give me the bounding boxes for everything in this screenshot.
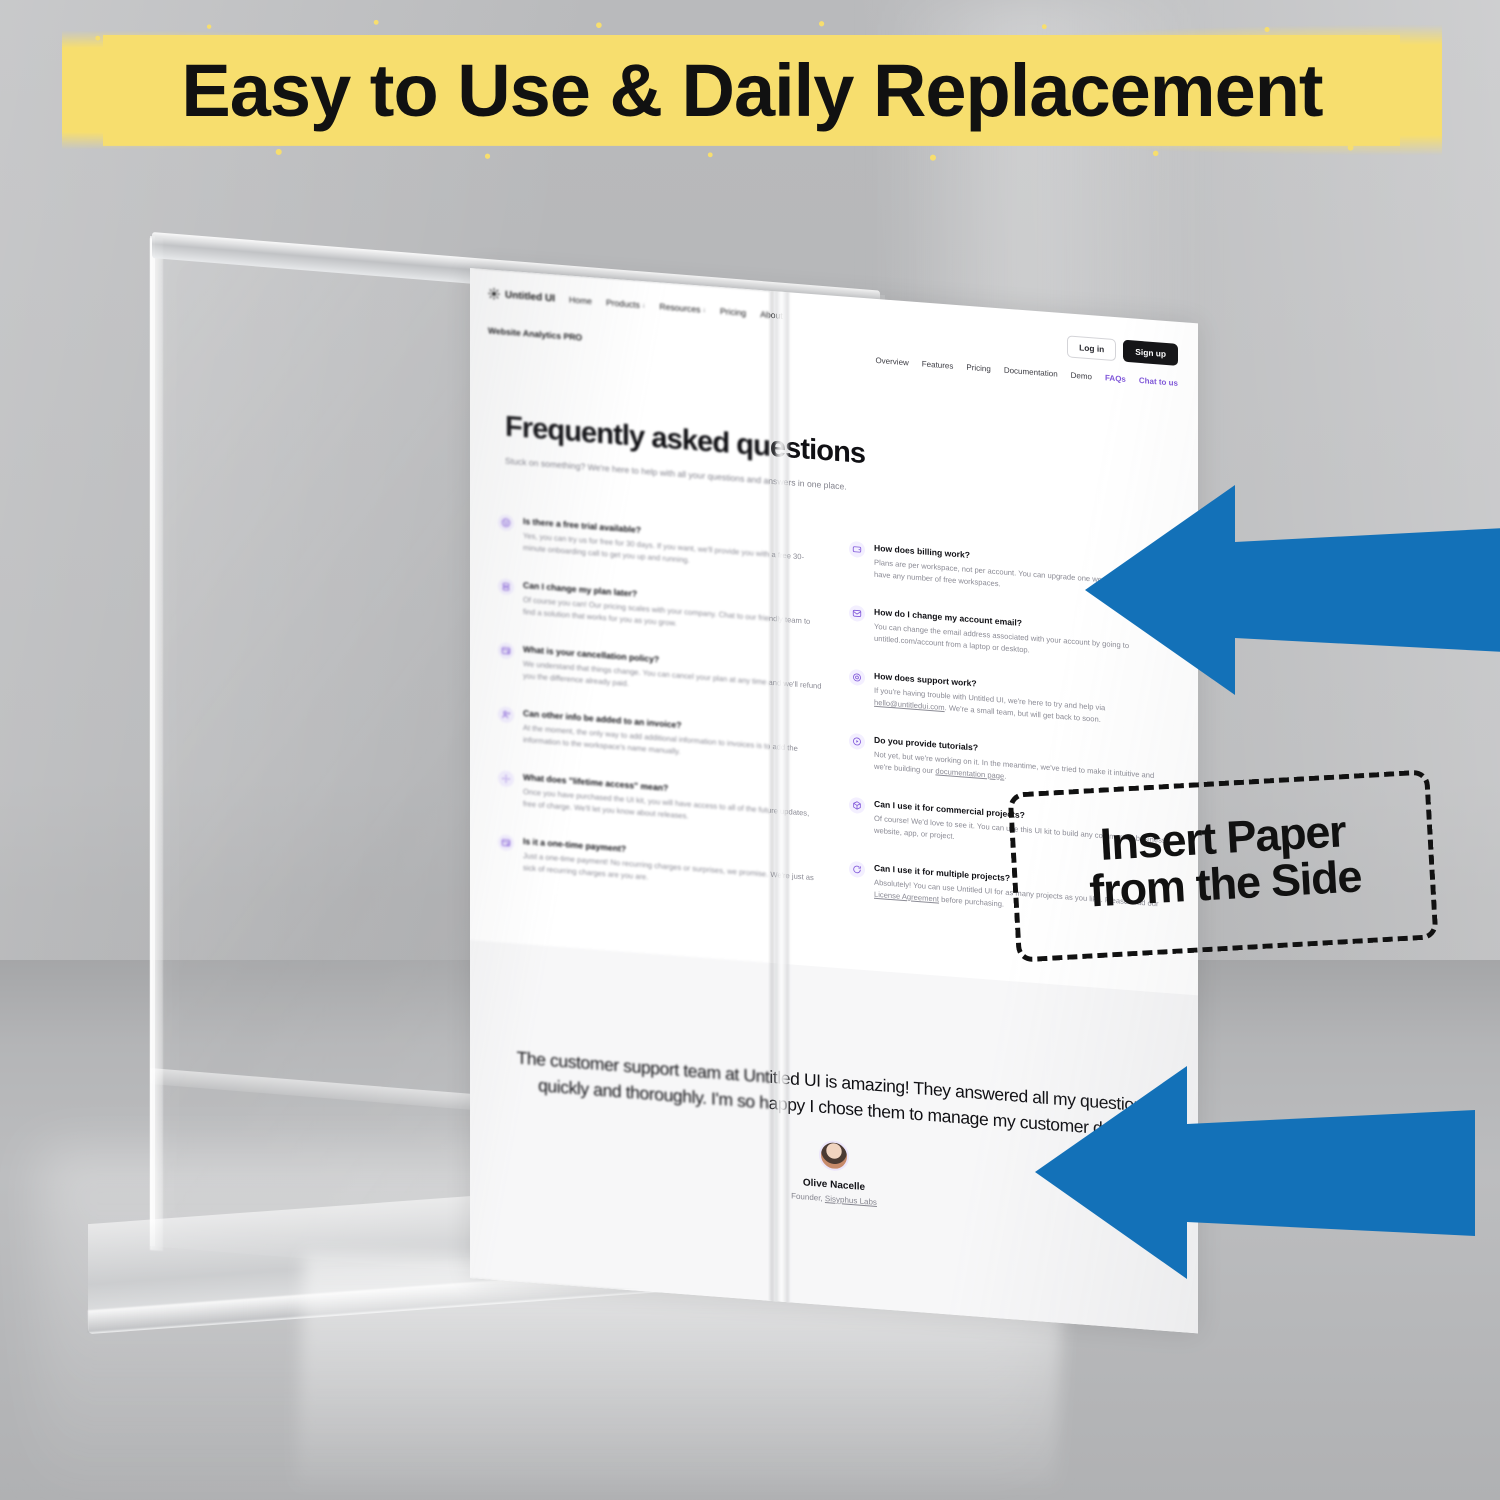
user-plus-icon: [498, 706, 514, 723]
subnav-item-pricing[interactable]: Pricing: [966, 362, 990, 373]
subnav-item-documentation[interactable]: Documentation: [1004, 365, 1058, 378]
card-refresh-icon: [498, 642, 514, 659]
refresh-icon: [849, 861, 865, 878]
nav-label: Resources: [659, 301, 700, 314]
testimonial-author-role: Founder, Sisyphus Labs: [791, 1191, 877, 1207]
chat-to-us-link[interactable]: Chat to us: [1139, 375, 1178, 387]
nav-label: Pricing: [720, 306, 746, 318]
smiley-icon: [498, 514, 514, 531]
arrow-pointer-bottom: [1035, 1060, 1475, 1285]
primary-nav: Untitled UI Home Products↓ Resources↓ Pr…: [488, 287, 783, 321]
company-link[interactable]: Sisyphus Labs: [825, 1194, 877, 1207]
nav-link-home[interactable]: Home: [569, 295, 592, 307]
subnav-item-overview[interactable]: Overview: [875, 355, 908, 367]
support-email-link[interactable]: hello@untitledui.com: [874, 697, 945, 711]
card-check-icon: [498, 834, 514, 851]
sparkle-icon: [498, 770, 514, 787]
testimonial-author-name: Olive Nacelle: [803, 1177, 865, 1193]
nav-label: Home: [569, 295, 592, 307]
login-button[interactable]: Log in: [1067, 335, 1116, 361]
arrow-pointer-top: [1085, 480, 1500, 700]
acrylic-left-edge: [150, 238, 163, 1251]
product-photo-composite: Easy to Use & Daily Replacement: [0, 0, 1500, 1500]
faq-answer-post: before purchasing.: [939, 895, 1004, 909]
chevron-down-icon: ↓: [702, 306, 706, 313]
brand-logo[interactable]: Untitled UI: [488, 287, 555, 304]
product-name: Website Analytics PRO: [488, 325, 582, 342]
callout-line-2: from the Side: [1088, 853, 1362, 914]
role-prefix: Founder,: [791, 1191, 825, 1203]
nav-label: Products: [606, 297, 640, 310]
nav-link-pricing[interactable]: Pricing: [720, 306, 746, 318]
license-agreement-link[interactable]: License Agreement: [874, 890, 939, 904]
faq-answer-post: .: [1004, 771, 1006, 780]
sun-logo-icon: [488, 287, 500, 300]
subnav-item-demo[interactable]: Demo: [1071, 370, 1092, 381]
nav-link-resources[interactable]: Resources↓: [659, 301, 706, 315]
mail-icon: [849, 605, 865, 622]
acrylic-seam-highlight: [775, 281, 789, 1317]
brand-name: Untitled UI: [505, 289, 555, 304]
nav-link-products[interactable]: Products↓: [606, 297, 645, 310]
box-icon: [849, 797, 865, 814]
auth-buttons: Log in Sign up: [1067, 335, 1178, 365]
signup-button[interactable]: Sign up: [1123, 340, 1178, 366]
chevron-down-icon: ↓: [642, 302, 646, 309]
documentation-page-link[interactable]: documentation page: [935, 766, 1004, 780]
acrylic-seam-shadow: [770, 281, 774, 1316]
subnav-item-faqs[interactable]: FAQs: [1105, 373, 1126, 384]
play-circle-icon: [849, 733, 865, 750]
lifebuoy-icon: [849, 669, 865, 686]
wallet-icon: [849, 541, 865, 558]
avatar: [819, 1140, 849, 1172]
layers-icon: [498, 578, 514, 595]
subnav-item-features[interactable]: Features: [922, 359, 954, 370]
callout-text: Insert Paper from the Side: [1024, 775, 1424, 947]
headline-text: Easy to Use & Daily Replacement: [62, 24, 1442, 156]
headline-banner: Easy to Use & Daily Replacement: [62, 24, 1442, 156]
